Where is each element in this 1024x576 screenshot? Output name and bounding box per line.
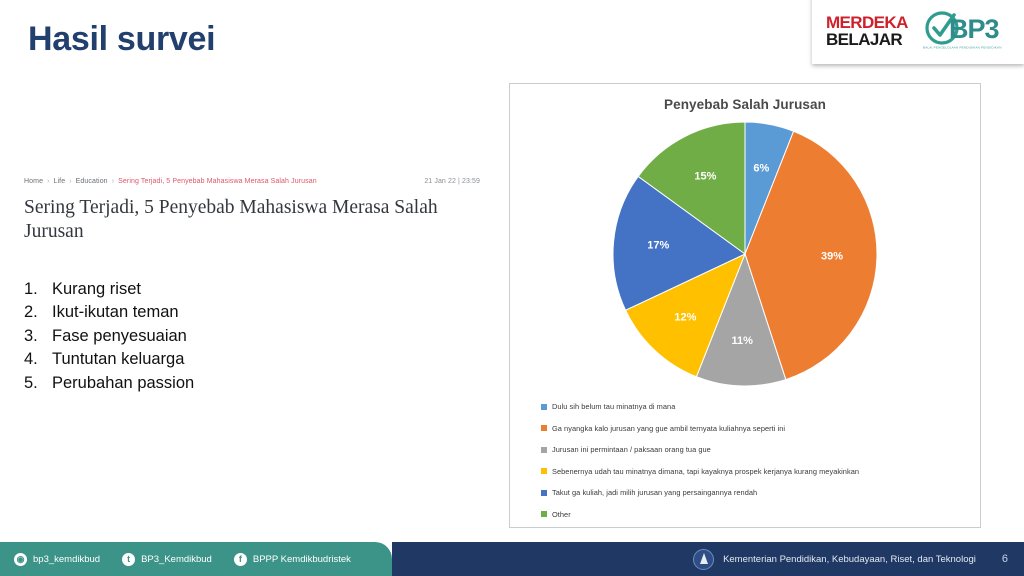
list-item-number: 5. [24,372,52,395]
article-timestamp: 21 Jan 22 | 23:59 [424,178,480,185]
legend-item: Jurusan ini permintaan / paksaan orang t… [541,439,970,461]
legend-item: Ga nyangka kalo jurusan yang gue ambil t… [541,418,970,440]
chart-legend: Dulu sih belum tau minatnya di manaGa ny… [541,396,970,525]
legend-item: Sebenernya udah tau minatnya dimana, tap… [541,461,970,483]
legend-label: Ga nyangka kalo jurusan yang gue ambil t… [552,424,785,433]
legend-swatch [541,490,547,496]
bp3-logo-subtitle: BALAI PENGELOLAAN PENDIDIKAN PENDIDIKAN [923,46,1002,49]
list-item-number: 3. [24,325,52,348]
logo-band: MERDEKA BELAJAR BP3 BALAI PENGELOLAAN PE… [814,0,1024,66]
merdeka-logo-line1: MERDEKA [826,14,918,31]
legend-item: Other [541,504,970,526]
list-item-number: 4. [24,348,52,371]
breadcrumb: Home › Life › Education › Sering Terjadi… [24,178,480,185]
list-item: 4. Tuntutan keluarga [24,348,354,371]
social-handle: BP3_Kemdikbud [141,554,212,565]
footer-social-bar: ◉ bp3_kemdikbud t BP3_Kemdikbud f BPPP K… [0,542,392,576]
merdeka-logo-line2: BELAJAR [826,31,918,48]
pie-chart-svg: 6%39%11%12%17%15% [600,120,890,388]
list-item-number: 1. [24,278,52,301]
bp3-logo-text: BP3 [949,14,999,45]
chart-panel: Penyebab Salah Jurusan 6%39%11%12%17%15%… [509,83,981,528]
ministry-name: Kementerian Pendidikan, Kebudayaan, Rise… [723,554,976,565]
pie-slice-label: 12% [674,311,696,323]
chart-title: Penyebab Salah Jurusan [510,97,980,112]
legend-label: Dulu sih belum tau minatnya di mana [552,402,675,411]
cause-list: 1. Kurang riset 2. Ikut-ikutan teman 3. … [24,278,354,395]
slide-footer: ◉ bp3_kemdikbud t BP3_Kemdikbud f BPPP K… [0,542,1024,576]
article-headline: Sering Terjadi, 5 Penyebab Mahasiswa Mer… [24,196,474,244]
breadcrumb-item-current: Sering Terjadi, 5 Penyebab Mahasiswa Mer… [118,178,317,185]
legend-label: Other [552,510,571,519]
pie-chart: 6%39%11%12%17%15% [510,120,980,388]
list-item-label: Kurang riset [52,278,141,301]
list-item: 3. Fase penyesuaian [24,325,354,348]
social-instagram[interactable]: ◉ bp3_kemdikbud [14,553,100,566]
bp3-logo: BP3 BALAI PENGELOLAAN PENDIDIKAN PENDIDI… [919,6,1019,62]
list-item-label: Tuntutan keluarga [52,348,184,371]
social-handle: bp3_kemdikbud [33,554,100,565]
article-clipping: Home › Life › Education › Sering Terjadi… [24,178,480,244]
legend-label: Sebenernya udah tau minatnya dimana, tap… [552,467,859,476]
footer-ministry-bar: Kementerian Pendidikan, Kebudayaan, Rise… [392,542,1024,576]
facebook-icon: f [234,553,247,566]
pie-slice-label: 17% [647,240,669,252]
legend-item: Takut ga kuliah, jadi milih jurusan yang… [541,482,970,504]
pie-slice-label: 6% [753,162,769,174]
legend-swatch [541,425,547,431]
legend-swatch [541,468,547,474]
page-number: 6 [1002,553,1008,565]
legend-label: Takut ga kuliah, jadi milih jurusan yang… [552,488,757,497]
list-item-number: 2. [24,301,52,324]
breadcrumb-item-education[interactable]: Education [76,178,108,185]
page-title: Hasil survei [28,20,215,59]
list-item-label: Ikut-ikutan teman [52,301,179,324]
pie-slice-label: 15% [694,170,716,182]
pie-slice-label: 39% [821,251,843,263]
social-twitter[interactable]: t BP3_Kemdikbud [122,553,212,566]
breadcrumb-item-life[interactable]: Life [54,178,66,185]
breadcrumb-separator: › [47,178,49,185]
twitter-icon: t [122,553,135,566]
legend-swatch [541,404,547,410]
legend-swatch [541,447,547,453]
breadcrumb-item-home[interactable]: Home [24,178,43,185]
list-item-label: Perubahan passion [52,372,194,395]
list-item-label: Fase penyesuaian [52,325,187,348]
list-item: 2. Ikut-ikutan teman [24,301,354,324]
social-handle: BPPP Kemdikbudristek [253,554,351,565]
legend-item: Dulu sih belum tau minatnya di mana [541,396,970,418]
legend-swatch [541,511,547,517]
breadcrumb-separator: › [112,178,114,185]
social-facebook[interactable]: f BPPP Kemdikbudristek [234,553,351,566]
list-item: 1. Kurang riset [24,278,354,301]
list-item: 5. Perubahan passion [24,372,354,395]
merdeka-belajar-logo: MERDEKA BELAJAR [826,14,918,48]
legend-label: Jurusan ini permintaan / paksaan orang t… [552,445,711,454]
breadcrumb-separator: › [69,178,71,185]
instagram-icon: ◉ [14,553,27,566]
pie-slice-label: 11% [732,335,754,347]
ministry-seal-icon [693,549,714,570]
